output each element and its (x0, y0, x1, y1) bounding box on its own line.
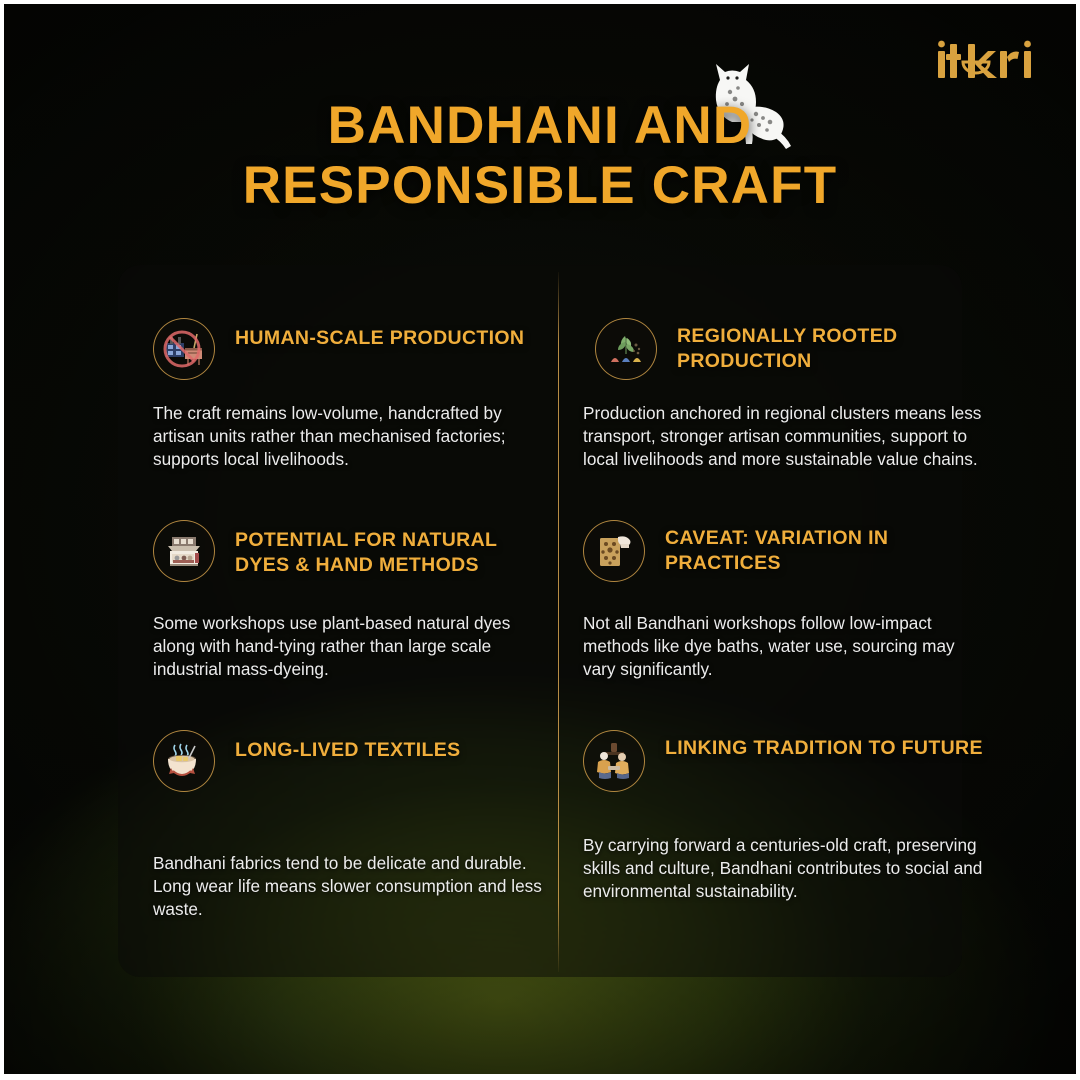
icon-badge (153, 730, 215, 792)
card-long-lived-textiles: LONG-LIVED TEXTILES Bandhani fabrics ten… (153, 730, 545, 921)
card-body: Production anchored in regional clusters… (583, 402, 983, 471)
card-body: Bandhani fabrics tend to be delicate and… (153, 852, 545, 921)
column-divider (558, 272, 559, 972)
card-caveat-variation-in-practices: CAVEAT: VARIATION IN PRACTICES Not all B… (583, 520, 983, 681)
icon-badge (153, 318, 215, 380)
page-title: BANDHANI AND RESPONSIBLE CRAFT (0, 96, 1080, 217)
workshop-building-icon (161, 528, 207, 574)
card-title: LINKING TRADITION TO FUTURE (665, 730, 983, 761)
icon-badge (583, 520, 645, 582)
card-potential-for-natural-dyes: POTENTIAL FOR NATURAL DYES & HAND METHOD… (153, 520, 545, 681)
card-body: Not all Bandhani workshops follow low-im… (583, 612, 983, 681)
card-body: By carrying forward a centuries-old craf… (583, 834, 983, 903)
card-linking-tradition-to-future: LINKING TRADITION TO FUTURE By carrying … (583, 730, 983, 903)
plant-dyes-icon (603, 326, 649, 372)
card-human-scale-production: HUMAN-SCALE PRODUCTION The craft remains… (153, 318, 545, 471)
icon-badge (595, 318, 657, 380)
icon-badge (583, 730, 645, 792)
header: BANDHANI AND RESPONSIBLE CRAFT (0, 0, 1080, 262)
card-title: REGIONALLY ROOTED PRODUCTION (677, 318, 983, 374)
card-title: POTENTIAL FOR NATURAL DYES & HAND METHOD… (235, 520, 545, 578)
icon-badge (153, 520, 215, 582)
hand-holding-fabric-icon (591, 528, 637, 574)
card-title: CAVEAT: VARIATION IN PRACTICES (665, 520, 983, 576)
title-line-1: BANDHANI AND (0, 96, 1080, 156)
card-regionally-rooted-production: REGIONALLY ROOTED PRODUCTION Production … (583, 318, 983, 471)
card-body: Some workshops use plant-based natural d… (153, 612, 545, 681)
card-title: LONG-LIVED TEXTILES (235, 730, 461, 763)
itokri-logo-icon (936, 40, 1040, 82)
card-body: The craft remains low-volume, handcrafte… (153, 402, 535, 471)
card-title: HUMAN-SCALE PRODUCTION (235, 318, 524, 351)
title-line-2: RESPONSIBLE CRAFT (0, 156, 1080, 216)
brand-logo (936, 40, 1040, 89)
dye-pot-recycle-icon (161, 738, 207, 784)
no-factory-icon (161, 326, 207, 372)
two-artisans-icon (591, 738, 637, 784)
